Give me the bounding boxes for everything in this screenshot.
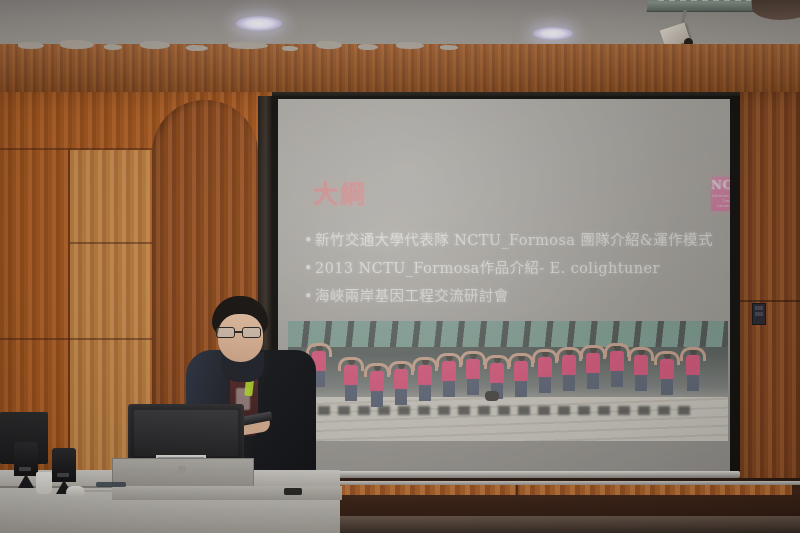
glasses-icon — [216, 327, 266, 338]
chipped-plaster — [0, 40, 520, 54]
projection-screen: 大綱 NCTU National Chiao Tung University •… — [278, 99, 730, 471]
nctu-logo-text: NCTU — [711, 180, 730, 190]
presenter-face — [218, 314, 263, 362]
photo-person — [660, 352, 674, 395]
photo-person — [394, 362, 408, 405]
baseboard-seam — [516, 485, 518, 495]
speaker-left — [14, 442, 38, 476]
photo-person — [344, 358, 358, 401]
wood-panel-light-upper — [70, 150, 150, 340]
list-item: •海峽兩岸基因工程交流研討會 — [304, 283, 724, 311]
slide: 大綱 NCTU National Chiao Tung University •… — [278, 99, 730, 471]
photo-person — [538, 350, 552, 393]
baseboard-trim — [280, 485, 792, 495]
photo-person — [634, 348, 648, 391]
panel-seam-d — [70, 242, 152, 244]
ceiling-light-right-icon — [533, 27, 573, 40]
floor — [272, 516, 800, 533]
bullet-marker-icon: • — [304, 227, 315, 255]
paper-cup — [36, 472, 52, 494]
photo-person — [686, 348, 700, 391]
lecture-hall-photo: 大綱 NCTU National Chiao Tung University •… — [0, 0, 800, 533]
speaker-right — [52, 448, 76, 482]
photo-person — [514, 354, 528, 397]
panel-seam-c — [0, 338, 152, 340]
photo-person — [562, 348, 576, 391]
slide-title: 大綱 — [313, 175, 367, 211]
photo-person — [418, 358, 432, 401]
bullet-text-1: 新竹交通大學代表隊 NCTU_Formosa 團隊介紹&運作模式 — [315, 233, 713, 249]
panel-seam-b — [68, 150, 70, 472]
screen-weight-bar — [272, 471, 740, 478]
bullet-text-2: 2013 NCTU_Formosa作品介紹- E. colightuner — [315, 261, 660, 277]
desk-object — [96, 482, 126, 487]
ceiling-light-left-icon — [236, 16, 282, 31]
nctu-logo: NCTU National Chiao Tung University — [711, 177, 730, 211]
ceiling-projector — [647, 0, 768, 12]
slide-group-photo — [288, 321, 728, 441]
photo-bag — [485, 391, 499, 401]
photo-person — [466, 352, 480, 395]
mouse-cable — [84, 490, 114, 492]
right-wall-seam — [740, 300, 800, 302]
list-item: •2013 NCTU_Formosa作品介紹- E. colightuner — [304, 255, 724, 283]
photo-venue-ceiling — [288, 321, 728, 347]
bullet-text-3: 海峽兩岸基因工程交流研討會 — [315, 289, 509, 305]
photo-person — [442, 354, 456, 397]
panel-seam-a — [0, 148, 152, 150]
photo-person — [370, 364, 384, 407]
computer-mouse[interactable] — [66, 486, 85, 497]
photo-person — [586, 346, 600, 389]
wall-switch-plate[interactable] — [752, 303, 766, 325]
podium-handle[interactable] — [178, 466, 186, 473]
right-wood-wall — [740, 92, 800, 492]
photo-person — [610, 344, 624, 387]
photo-venue-floor — [288, 397, 728, 441]
podium-cable-slot — [284, 488, 302, 495]
podium-ledge — [112, 486, 342, 500]
nctu-logo-subtext: National Chiao Tung University — [711, 193, 730, 208]
bullet-marker-icon: • — [304, 255, 315, 283]
list-item: •新竹交通大學代表隊 NCTU_Formosa 團隊介紹&運作模式 — [304, 227, 724, 255]
slide-bullet-list: •新竹交通大學代表隊 NCTU_Formosa 團隊介紹&運作模式 •2013 … — [304, 227, 724, 311]
photo-floor-shadow — [318, 406, 698, 415]
